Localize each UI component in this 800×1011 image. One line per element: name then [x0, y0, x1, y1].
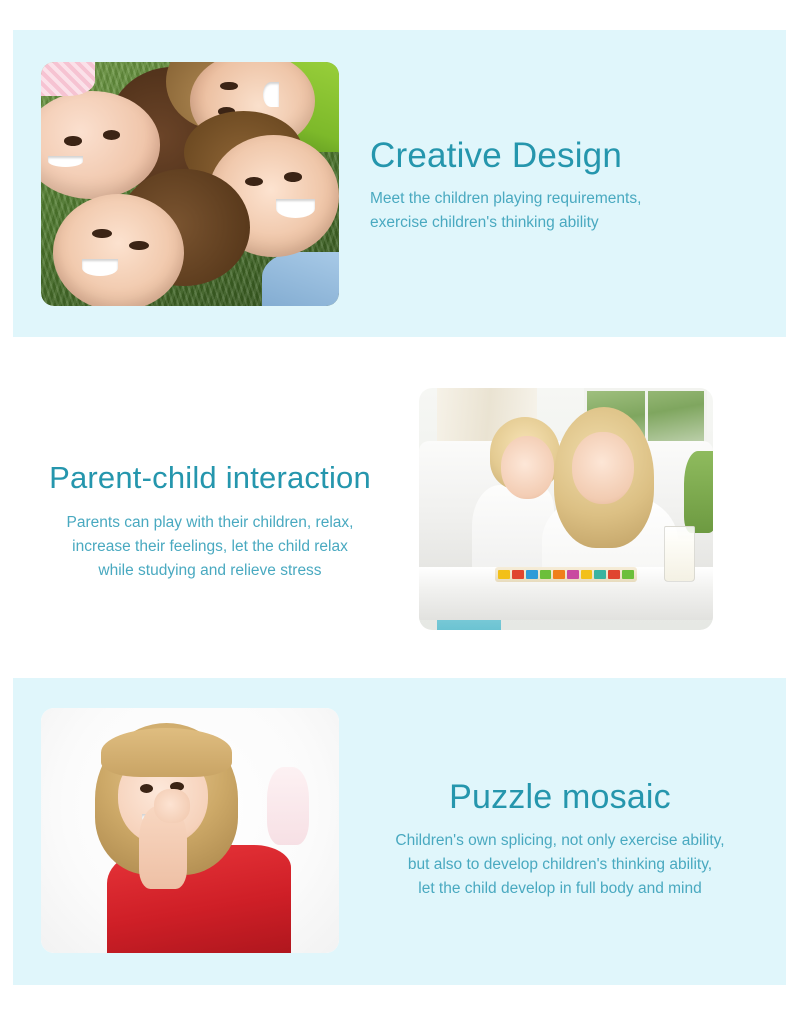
- child-a-smile: [48, 156, 84, 168]
- child-d-eye-left: [92, 229, 112, 238]
- feature-text-puzzle-mosaic: Puzzle mosaic Children's own splicing, n…: [358, 778, 762, 901]
- feature-body-line: increase their feelings, let the child r…: [10, 535, 410, 559]
- feature-body-line: Meet the children playing requirements,: [370, 187, 770, 211]
- feature-section-creative-design: Creative Design Meet the children playin…: [0, 30, 800, 337]
- feature-text-parent-child-interaction: Parent-child interaction Parents can pla…: [10, 460, 410, 583]
- feature-image-children-on-grass: [41, 62, 339, 306]
- feature-section-parent-child-interaction: Parent-child interaction Parents can pla…: [0, 360, 800, 660]
- child-d-smile: [82, 259, 119, 275]
- feature-body-line: let the child develop in full body and m…: [358, 877, 762, 901]
- child-a-eye-right: [103, 130, 121, 140]
- child-a-eye-left: [64, 136, 82, 146]
- feature-body-line: but also to develop children's thinking …: [358, 853, 762, 877]
- feature-body-creative-design: Meet the children playing requirements, …: [370, 187, 770, 235]
- child-d-face: [53, 194, 184, 306]
- feature-body-parent-child-interaction: Parents can play with their children, re…: [10, 511, 410, 583]
- child-a-pink-top: [41, 62, 95, 96]
- feature-heading-puzzle-mosaic: Puzzle mosaic: [358, 778, 762, 817]
- product-feature-page: Creative Design Meet the children playin…: [0, 0, 800, 1011]
- girl-bangs: [101, 728, 232, 777]
- feature-image-mother-and-child-puzzle: [419, 388, 713, 630]
- feature-body-line: Children's own splicing, not only exerci…: [358, 829, 762, 853]
- feature-image-girl-thinking: [41, 708, 339, 953]
- feature-heading-creative-design: Creative Design: [370, 136, 770, 176]
- feature-body-line: while studying and relieve stress: [10, 559, 410, 583]
- child-c-eye-right: [284, 172, 302, 182]
- feature-text-creative-design: Creative Design Meet the children playin…: [370, 136, 770, 235]
- child-b-smile: [263, 82, 279, 107]
- feature-body-puzzle-mosaic: Children's own splicing, not only exerci…: [358, 829, 762, 901]
- girl-hand-on-chin: [154, 789, 190, 823]
- feature-section-puzzle-mosaic: Puzzle mosaic Children's own splicing, n…: [0, 678, 800, 985]
- child-d-eye-right: [129, 241, 149, 250]
- feature-body-line: exercise children's thinking ability: [370, 211, 770, 235]
- child-c-smile: [276, 199, 315, 219]
- child-c-blue-shirt: [262, 252, 339, 306]
- house-plant: [684, 451, 713, 533]
- colorful-puzzle-board: [495, 567, 636, 582]
- glass-of-milk: [664, 526, 695, 581]
- feature-body-line: Parents can play with their children, re…: [10, 511, 410, 535]
- child-b-eye-left: [220, 82, 238, 91]
- child-c-eye-left: [245, 177, 263, 187]
- feature-heading-parent-child-interaction: Parent-child interaction: [10, 460, 410, 496]
- mother-face: [572, 432, 634, 505]
- toddler-face: [501, 436, 554, 499]
- girl-feet: [267, 767, 309, 845]
- girl-eye-left: [140, 784, 153, 793]
